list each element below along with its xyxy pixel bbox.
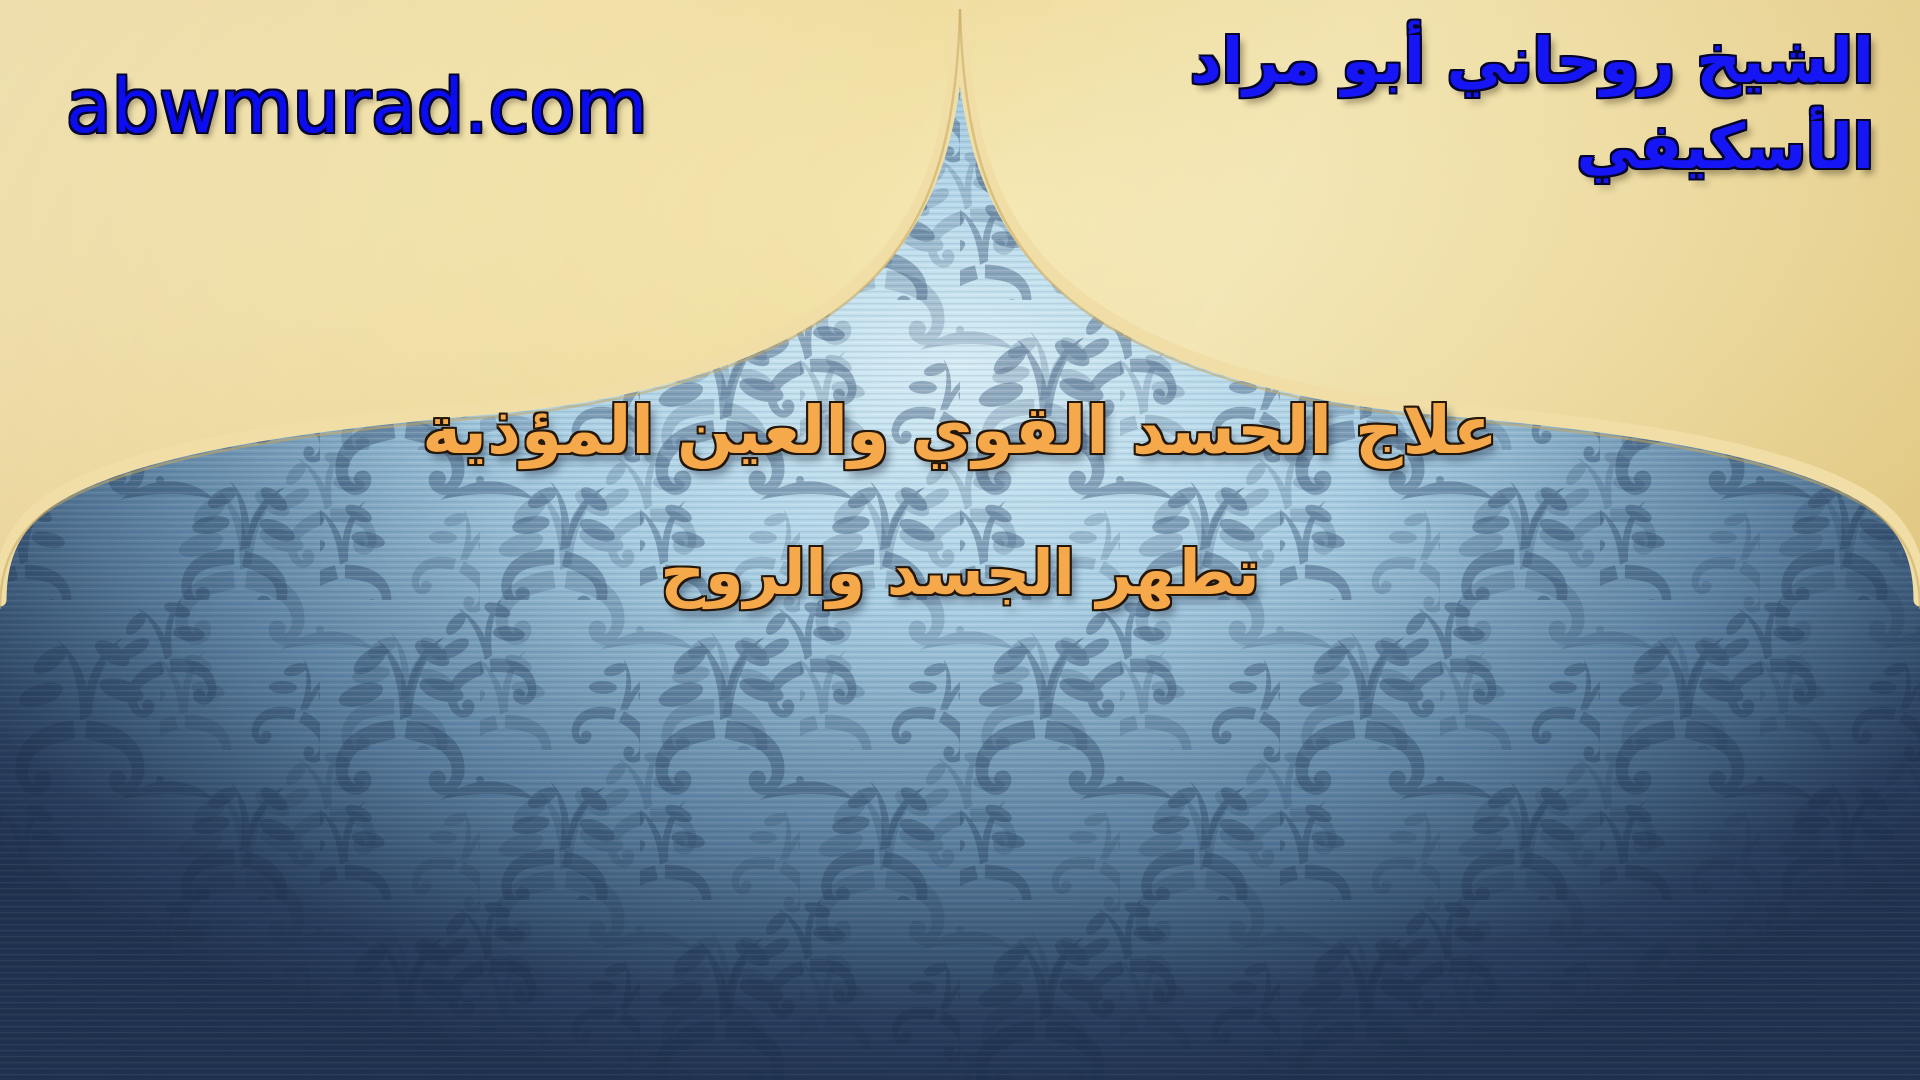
poster-canvas: abwmurad.com الشيخ روحاني أبو مراد الأسك…	[0, 0, 1920, 1080]
brand-line-1: الشيخ روحاني أبو مراد	[1190, 24, 1874, 97]
brand-line-2: الأسكيفي	[874, 104, 1874, 190]
brand-heading: الشيخ روحاني أبو مراد الأسكيفي	[874, 18, 1874, 189]
website-domain-label[interactable]: abwmurad.com	[66, 64, 648, 150]
headline-block: علاج الحسد القوي والعين المؤذية تطهر الج…	[0, 398, 1920, 604]
headline-line-1: علاج الحسد القوي والعين المؤذية	[0, 398, 1920, 464]
headline-line-2: تطهر الجسد والروح	[0, 542, 1920, 604]
